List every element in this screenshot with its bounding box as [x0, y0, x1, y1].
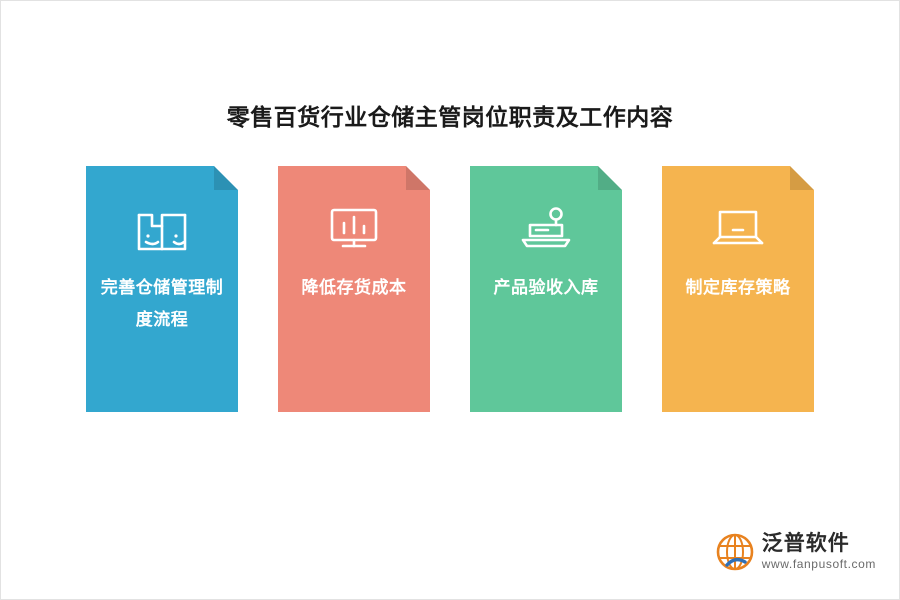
brand-name: 泛普软件 [762, 532, 876, 556]
card-label: 完善仓储管理制度流程 [96, 272, 228, 336]
card-item[interactable]: 产品验收入库 [470, 166, 622, 412]
brand-logo: 泛普软件 www.fanpusoft.com [715, 528, 876, 576]
brand-text: 泛普软件 www.fanpusoft.com [762, 532, 876, 572]
card-label: 制定库存策略 [672, 272, 804, 304]
poster-canvas: 零售百货行业仓储主管岗位职责及工作内容 完善仓储管理制度流程 [0, 0, 900, 600]
card-label: 产品验收入库 [480, 272, 612, 304]
card-item[interactable]: 降低存货成本 [278, 166, 430, 412]
card-item[interactable]: 制定库存策略 [662, 166, 814, 412]
monitor-chart-icon [278, 200, 430, 256]
card-fold-corner [598, 166, 622, 190]
page-title: 零售百货行业仓储主管岗位职责及工作内容 [0, 98, 900, 132]
card-fold-corner [214, 166, 238, 190]
card-label: 降低存货成本 [288, 272, 420, 304]
scanner-inspection-icon [470, 200, 622, 256]
card-row: 完善仓储管理制度流程 降低存货成本 [86, 166, 814, 412]
laptop-icon [662, 200, 814, 256]
card-item[interactable]: 完善仓储管理制度流程 [86, 166, 238, 412]
brand-url: www.fanpusoft.com [762, 556, 876, 572]
warehouse-box-icon [86, 200, 238, 256]
card-fold-corner [406, 166, 430, 190]
card-fold-corner [790, 166, 814, 190]
fanpu-globe-icon [715, 532, 755, 572]
